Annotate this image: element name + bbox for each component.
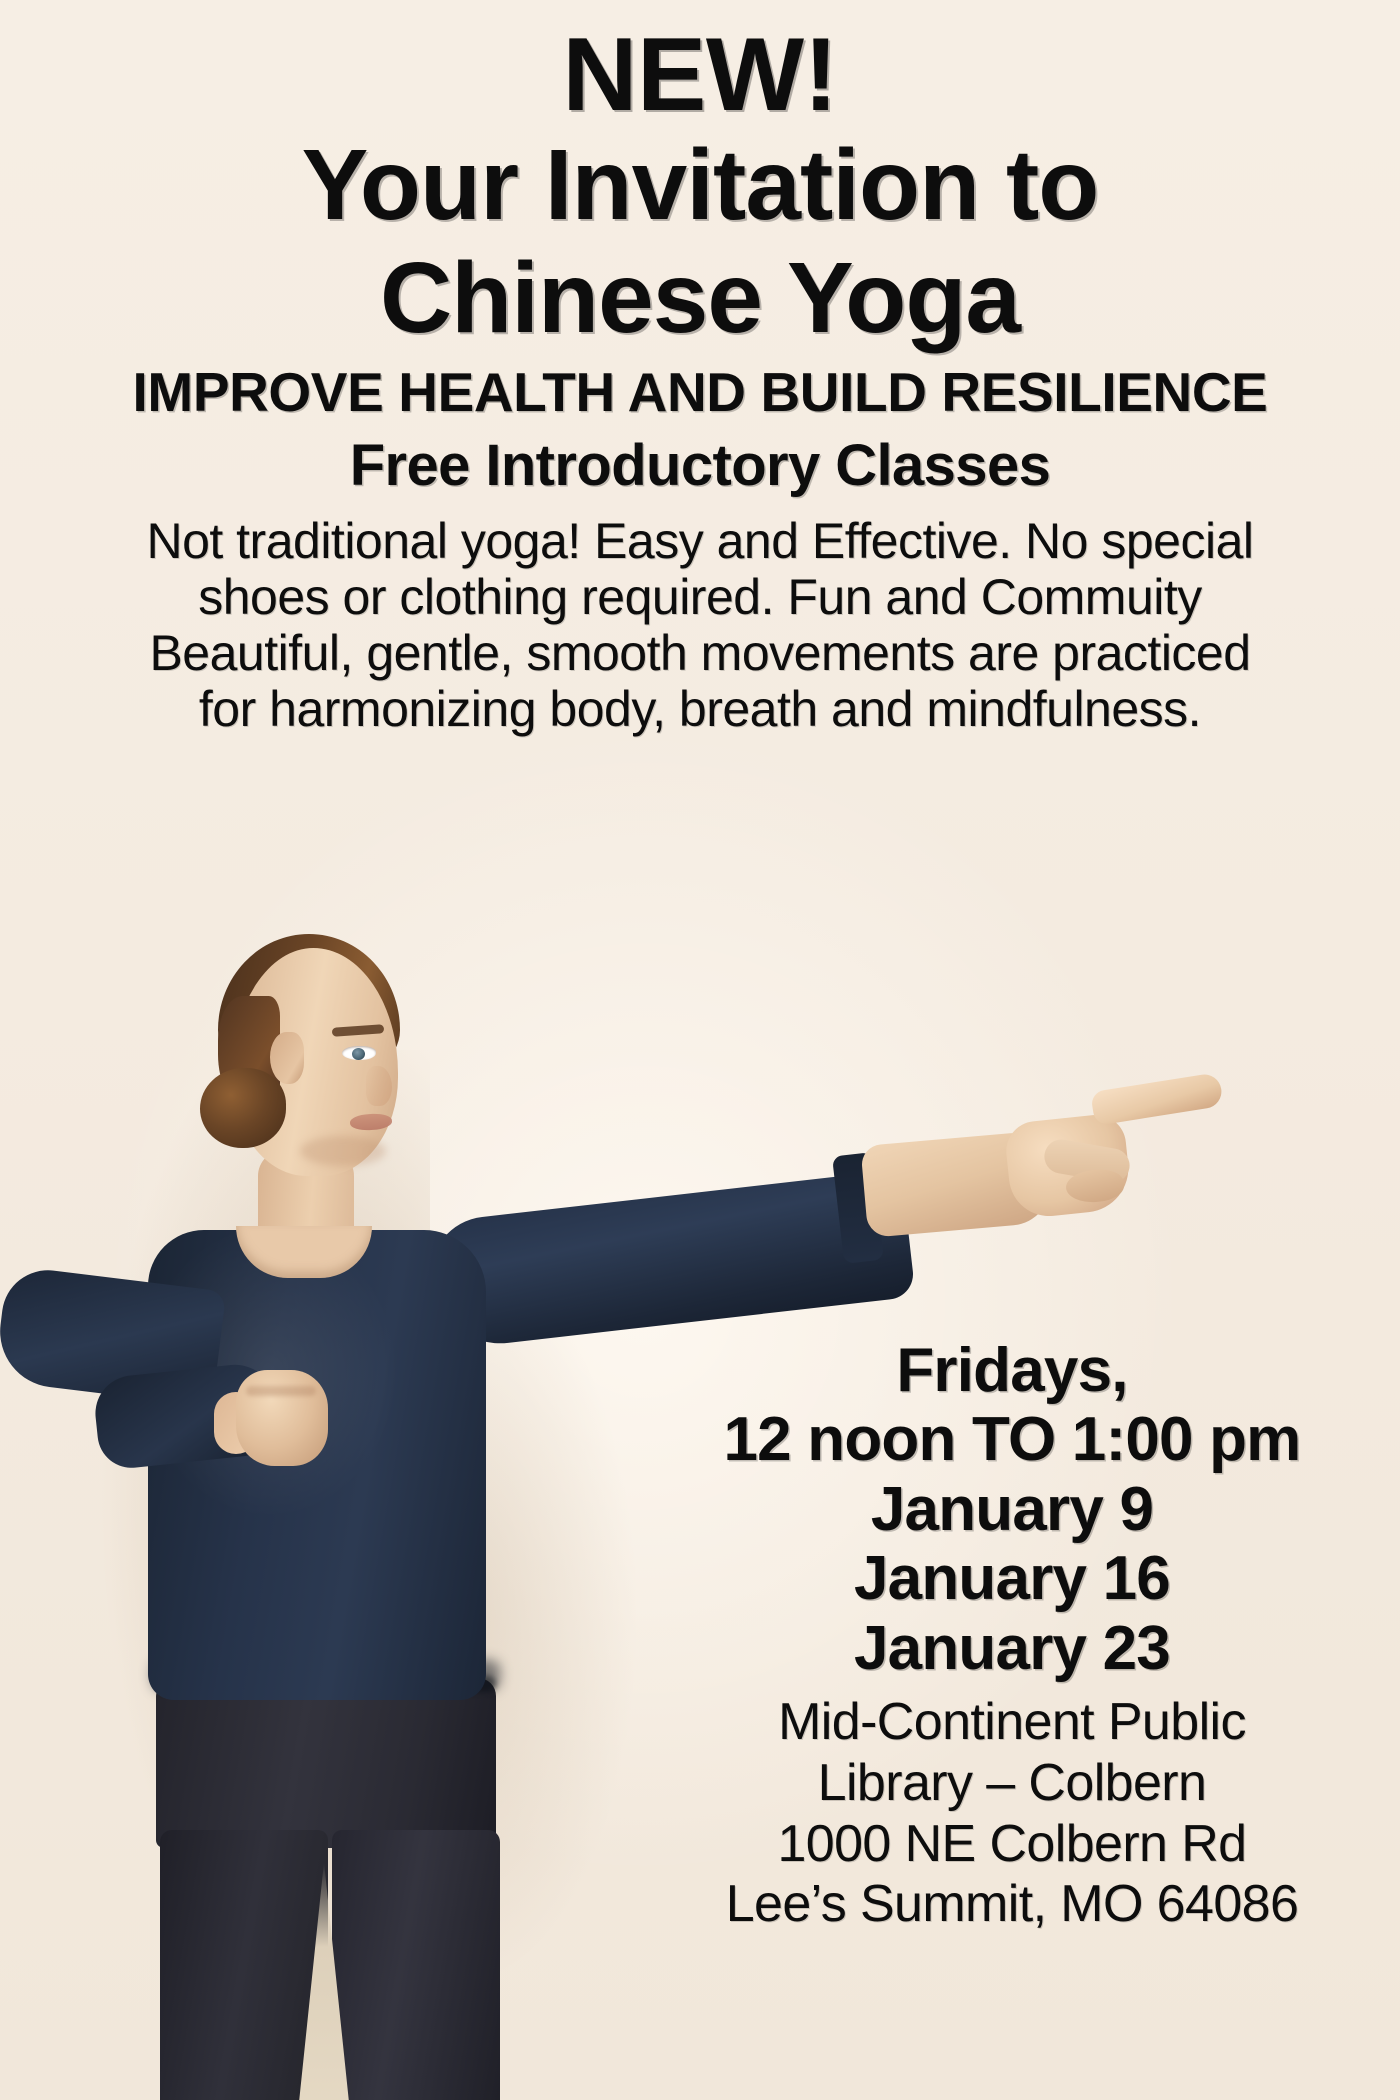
schedule-time: 12 noon TO 1:00 pm: [642, 1405, 1382, 1474]
right-leg: [332, 1830, 500, 2100]
left-leg: [160, 1830, 328, 2100]
schedule-date-2: January 16: [642, 1544, 1382, 1613]
schedule-day: Fridays,: [642, 1336, 1382, 1405]
fist-knuckles: [246, 1386, 316, 1396]
venue-city-state-zip: Lee’s Summit, MO 64086: [642, 1875, 1382, 1934]
venue-name-line1: Mid-Continent Public: [642, 1693, 1382, 1752]
body-copy: Not traditional yoga! Easy and Effective…: [40, 513, 1360, 737]
iris: [352, 1048, 365, 1060]
ear: [270, 1032, 304, 1084]
venue-name-line2: Library – Colbern: [642, 1754, 1382, 1813]
headline-block: NEW! Your Invitation to Chinese Yoga IMP…: [0, 0, 1400, 737]
body-copy-line-1: Not traditional yoga! Easy and Effective…: [40, 513, 1360, 569]
schedule-date-1: January 9: [642, 1475, 1382, 1544]
hips: [156, 1678, 496, 1848]
venue-street: 1000 NE Colbern Rd: [642, 1815, 1382, 1874]
hair-bun: [200, 1068, 286, 1148]
left-fist: [236, 1370, 328, 1466]
venue-block: Mid-Continent Public Library – Colbern 1…: [642, 1693, 1382, 1934]
body-copy-line-3: Beautiful, gentle, smooth movements are …: [40, 625, 1360, 681]
yoga-class-flyer: NEW! Your Invitation to Chinese Yoga IMP…: [0, 0, 1400, 2100]
schedule-date-3: January 23: [642, 1614, 1382, 1683]
body-copy-line-4: for harmonizing body, breath and mindful…: [40, 681, 1360, 737]
kicker-new: NEW!: [0, 22, 1400, 129]
subtagline: Free Introductory Classes: [0, 431, 1400, 501]
index-finger: [1090, 1072, 1224, 1126]
page-title-line1: Your Invitation to: [0, 129, 1400, 242]
page-title-line2: Chinese Yoga: [0, 242, 1400, 355]
chin-shadow: [300, 1136, 386, 1166]
event-details-block: Fridays, 12 noon TO 1:00 pm January 9 Ja…: [642, 1336, 1382, 1934]
body-copy-line-2: shoes or clothing required. Fun and Comm…: [40, 569, 1360, 625]
nose: [366, 1066, 392, 1106]
tagline: IMPROVE HEALTH AND BUILD RESILIENCE: [0, 361, 1400, 425]
